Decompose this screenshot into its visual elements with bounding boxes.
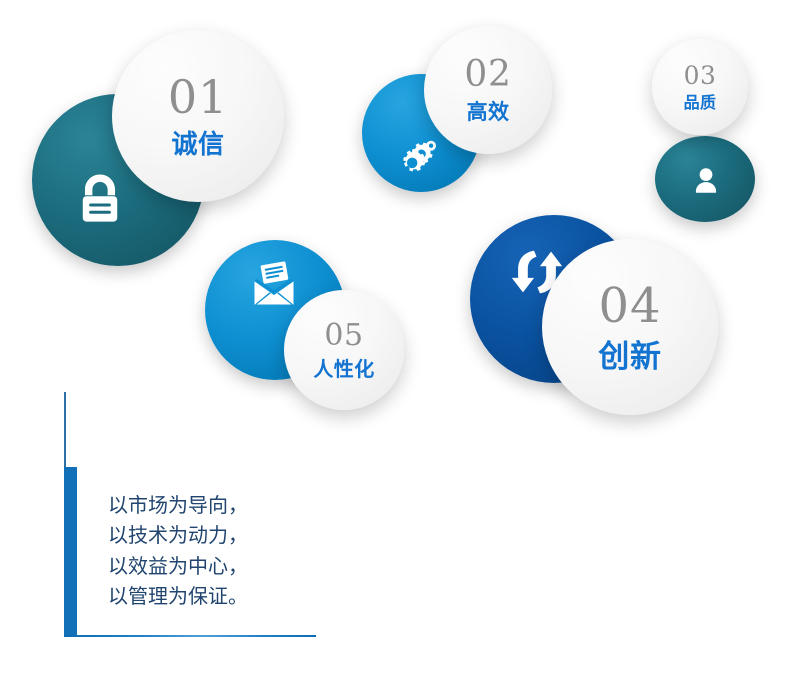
bracket-thick-bar (64, 467, 77, 635)
feature-label-01: 诚信 (171, 132, 224, 158)
feature-label-05: 人性化 (313, 359, 374, 379)
quote-text: 以市场为导向， 以技术为动力， 以效益为中心， 以管理为保证。 (108, 490, 248, 612)
feature-label-04: 创新 (598, 342, 661, 373)
feature-number-03: 03 (684, 63, 717, 88)
feature-circle-01[interactable]: 01 诚信 (112, 30, 284, 202)
feature-circle-02[interactable]: 02 高效 (424, 26, 552, 154)
feature-circle-03[interactable]: 03 品质 (652, 39, 748, 135)
infographic-canvas: 01 诚信 02 高效 03 品质 (0, 0, 794, 678)
feature-circle-04[interactable]: 04 创新 (542, 239, 718, 415)
bracket-bottom-line (64, 635, 316, 637)
quote-block: 以市场为导向， 以技术为动力， 以效益为中心， 以管理为保证。 (64, 392, 316, 648)
feature-label-03: 品质 (684, 95, 717, 111)
feature-number-05: 05 (324, 321, 363, 351)
feature-number-04: 04 (599, 282, 662, 330)
feature-number-02: 02 (464, 57, 511, 93)
bracket-thin-line (64, 392, 66, 467)
icon-circle-03[interactable] (655, 136, 755, 222)
feature-label-02: 高效 (467, 102, 510, 123)
feature-number-01: 01 (168, 74, 228, 120)
